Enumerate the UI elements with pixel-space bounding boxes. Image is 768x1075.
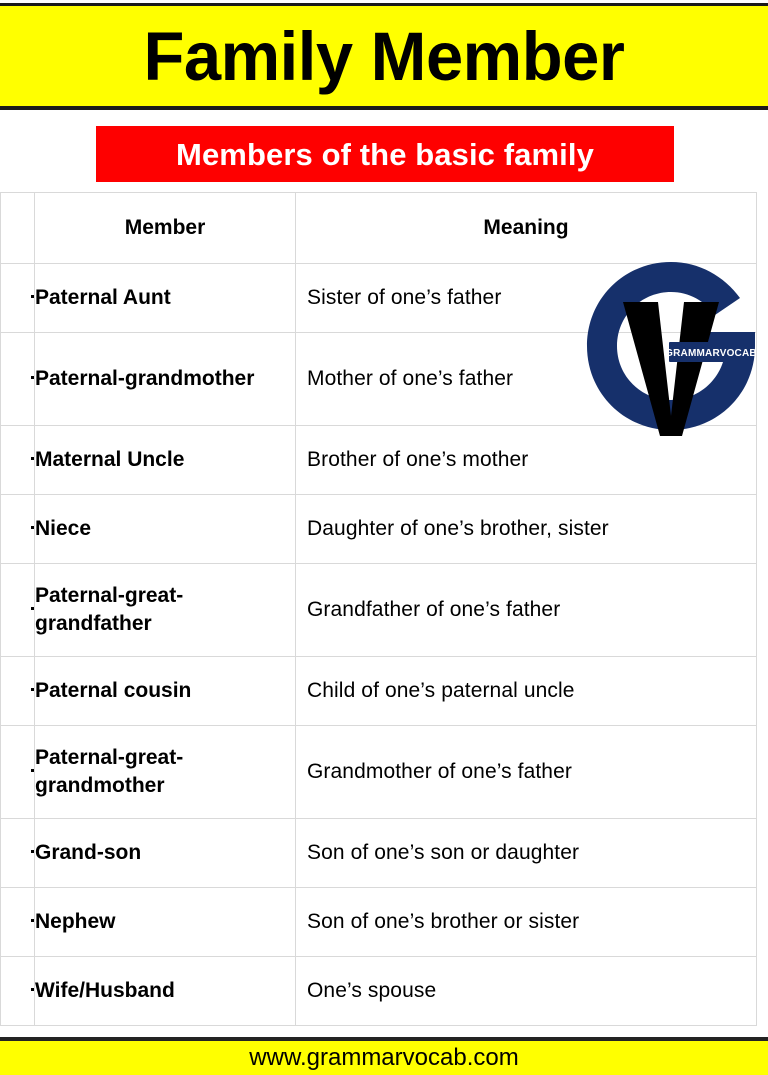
row-bullet-marker <box>1 564 35 657</box>
table-header-member: Member <box>35 193 296 264</box>
column-header-label: Member <box>35 216 295 240</box>
member-name: Paternal-grandmother <box>35 365 295 393</box>
member-name: Paternal-great-grandmother <box>35 744 295 799</box>
title-banner: Family Member <box>0 3 768 110</box>
meaning-cell: Sister of one’s father <box>296 264 757 333</box>
meaning-description: Brother of one’s mother <box>296 446 756 473</box>
meaning-description: Child of one’s paternal uncle <box>296 677 756 704</box>
row-bullet-marker <box>1 657 35 726</box>
row-bullet-marker <box>1 333 35 426</box>
bullet-dot-icon <box>31 295 34 298</box>
meaning-description: Son of one’s brother or sister <box>296 908 756 935</box>
member-name: Niece <box>35 515 295 544</box>
member-name: Grand-son <box>35 839 295 868</box>
table-row: Paternal cousinChild of one’s paternal u… <box>1 657 757 726</box>
website-url: www.grammarvocab.com <box>249 1046 518 1070</box>
subtitle-label: Members of the basic family <box>176 139 594 170</box>
family-members-table-wrap: Member Meaning Paternal AuntSister of on… <box>0 192 756 1026</box>
member-name: Nephew <box>35 908 295 937</box>
table-row: Paternal-great-grandfatherGrandfather of… <box>1 564 757 657</box>
member-cell: Paternal-great-grandmother <box>35 726 296 819</box>
row-bullet-marker <box>1 888 35 957</box>
row-bullet-marker <box>1 957 35 1026</box>
table-body: Paternal AuntSister of one’s fatherPater… <box>1 264 757 1026</box>
row-bullet-marker <box>1 426 35 495</box>
meaning-cell: Grandmother of one’s father <box>296 726 757 819</box>
meaning-cell: Child of one’s paternal uncle <box>296 657 757 726</box>
member-name: Wife/Husband <box>35 977 295 1006</box>
page-title: Family Member <box>144 22 625 91</box>
meaning-description: One’s spouse <box>296 977 756 1004</box>
table-header-meaning: Meaning <box>296 193 757 264</box>
table-row: NephewSon of one’s brother or sister <box>1 888 757 957</box>
meaning-cell: Brother of one’s mother <box>296 426 757 495</box>
member-cell: Paternal Aunt <box>35 264 296 333</box>
family-members-table: Member Meaning Paternal AuntSister of on… <box>0 192 757 1026</box>
table-row: NieceDaughter of one’s brother, sister <box>1 495 757 564</box>
row-bullet-marker <box>1 264 35 333</box>
bullet-dot-icon <box>31 769 34 772</box>
bullet-dot-icon <box>31 688 34 691</box>
member-name: Paternal-great-grandfather <box>35 582 295 637</box>
table-row: Grand-sonSon of one’s son or daughter <box>1 819 757 888</box>
row-bullet-marker <box>1 495 35 564</box>
meaning-cell: Grandfather of one’s father <box>296 564 757 657</box>
table-row: Paternal AuntSister of one’s father <box>1 264 757 333</box>
table-header-row: Member Meaning <box>1 193 757 264</box>
table-row: Wife/HusbandOne’s spouse <box>1 957 757 1026</box>
meaning-description: Son of one’s son or daughter <box>296 839 756 866</box>
meaning-description: Daughter of one’s brother, sister <box>296 515 756 542</box>
bullet-dot-icon <box>31 607 34 610</box>
meaning-description: Grandmother of one’s father <box>296 758 756 785</box>
bullet-dot-icon <box>31 988 34 991</box>
table-row: Paternal-great-grandmotherGrandmother of… <box>1 726 757 819</box>
meaning-description: Sister of one’s father <box>296 284 756 311</box>
worksheet-page: Family Member Members of the basic famil… <box>0 0 768 1075</box>
bullet-dot-icon <box>31 376 34 379</box>
bullet-dot-icon <box>31 526 34 529</box>
meaning-cell: Son of one’s brother or sister <box>296 888 757 957</box>
member-name: Maternal Uncle <box>35 446 295 475</box>
meaning-cell: One’s spouse <box>296 957 757 1026</box>
member-cell: Grand-son <box>35 819 296 888</box>
table-header-bullet-spacer <box>1 193 35 264</box>
member-cell: Niece <box>35 495 296 564</box>
row-bullet-marker <box>1 726 35 819</box>
meaning-cell: Mother of one’s father <box>296 333 757 426</box>
member-name: Paternal Aunt <box>35 284 295 313</box>
member-cell: Nephew <box>35 888 296 957</box>
table-row: Maternal UncleBrother of one’s mother <box>1 426 757 495</box>
member-cell: Paternal-great-grandfather <box>35 564 296 657</box>
row-bullet-marker <box>1 819 35 888</box>
bullet-dot-icon <box>31 919 34 922</box>
meaning-cell: Son of one’s son or daughter <box>296 819 757 888</box>
bullet-dot-icon <box>31 457 34 460</box>
bullet-dot-icon <box>31 850 34 853</box>
meaning-description: Mother of one’s father <box>296 365 756 392</box>
subtitle-banner: Members of the basic family <box>96 126 674 182</box>
meaning-cell: Daughter of one’s brother, sister <box>296 495 757 564</box>
meaning-description: Grandfather of one’s father <box>296 596 756 623</box>
member-cell: Paternal-grandmother <box>35 333 296 426</box>
column-header-label: Meaning <box>296 216 756 240</box>
member-cell: Paternal cousin <box>35 657 296 726</box>
member-cell: Wife/Husband <box>35 957 296 1026</box>
footer-banner: www.grammarvocab.com <box>0 1037 768 1075</box>
table-row: Paternal-grandmotherMother of one’s fath… <box>1 333 757 426</box>
member-name: Paternal cousin <box>35 677 295 706</box>
member-cell: Maternal Uncle <box>35 426 296 495</box>
